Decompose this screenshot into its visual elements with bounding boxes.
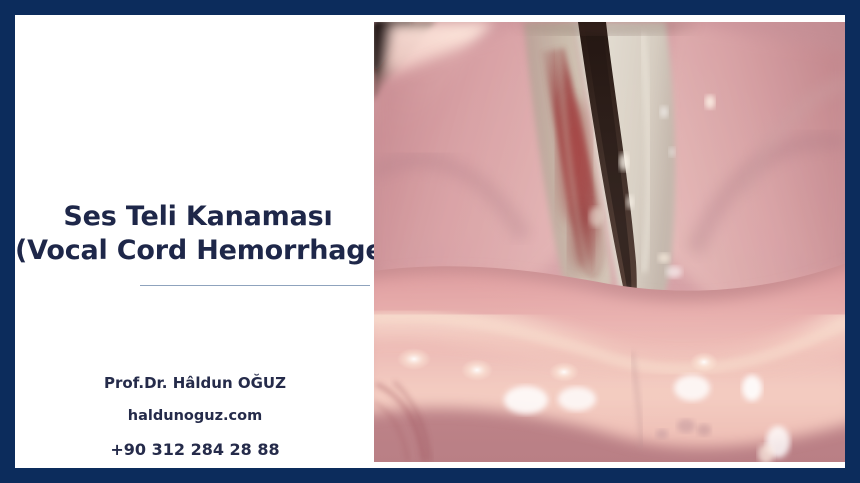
page-title: Ses Teli Kanaması (Vocal Cord Hemorrhage… [15, 200, 375, 268]
title-line-turkish: Ses Teli Kanaması [15, 200, 375, 234]
slide-inner-canvas: Ses Teli Kanaması (Vocal Cord Hemorrhage… [15, 15, 845, 468]
phone-number[interactable]: +90 312 284 28 88 [15, 433, 375, 466]
title-line-english: (Vocal Cord Hemorrhage) [15, 234, 375, 268]
slide-root: Ses Teli Kanaması (Vocal Cord Hemorrhage… [0, 0, 860, 483]
endoscopic-photo [374, 22, 845, 462]
title-divider-rule [140, 285, 370, 286]
text-panel: Ses Teli Kanaması (Vocal Cord Hemorrhage… [15, 15, 375, 468]
contact-block: Prof.Dr. Hâldun OĞUZ haldunoguz.com +90 … [15, 367, 375, 466]
presenter-name: Prof.Dr. Hâldun OĞUZ [15, 367, 375, 400]
website-link[interactable]: haldunoguz.com [15, 400, 375, 433]
endoscopic-photo-graphic [374, 22, 845, 462]
